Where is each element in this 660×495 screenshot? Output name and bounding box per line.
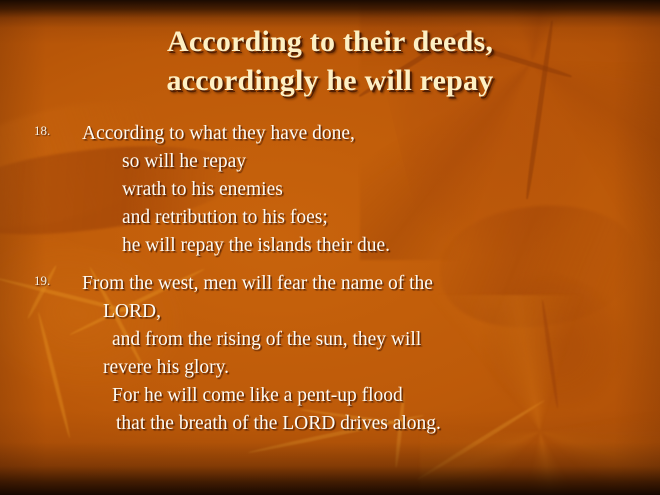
- verse-19-line-5: For he will come like a pent-up flood: [0, 382, 660, 410]
- verse-18: 18. According to what they have done, so…: [0, 120, 660, 260]
- verse-19-lines: From the west, men will fear the name of…: [0, 270, 660, 438]
- verse-18-line-5: he will repay the islands their due.: [0, 232, 660, 260]
- slide-title-line-2: accordingly he will repay: [0, 61, 660, 100]
- slide-title: According to their deeds, accordingly he…: [0, 22, 660, 100]
- verse-19-line-2: LORD,: [0, 298, 660, 326]
- verse-18-lines: According to what they have done, so wil…: [0, 120, 660, 260]
- verse-19-line-3: and from the rising of the sun, they wil…: [0, 326, 660, 354]
- verse-19-line-1: From the west, men will fear the name of…: [0, 270, 660, 298]
- slide-content: According to their deeds, accordingly he…: [0, 0, 660, 495]
- verse-number-18: 18.: [34, 123, 50, 139]
- verse-number-19: 19.: [34, 273, 50, 289]
- verse-19-line-6: that the breath of the LORD drives along…: [0, 410, 660, 438]
- verse-18-line-1: According to what they have done,: [0, 120, 660, 148]
- slide-canvas: According to their deeds, accordingly he…: [0, 0, 660, 495]
- verse-19-line-4: revere his glory.: [0, 354, 660, 382]
- verse-18-line-3: wrath to his enemies: [0, 176, 660, 204]
- slide-title-line-1: According to their deeds,: [0, 22, 660, 61]
- verse-18-line-4: and retribution to his foes;: [0, 204, 660, 232]
- scripture-body: 18. According to what they have done, so…: [0, 120, 660, 438]
- verse-18-line-2: so will he repay: [0, 148, 660, 176]
- verse-19: 19. From the west, men will fear the nam…: [0, 270, 660, 438]
